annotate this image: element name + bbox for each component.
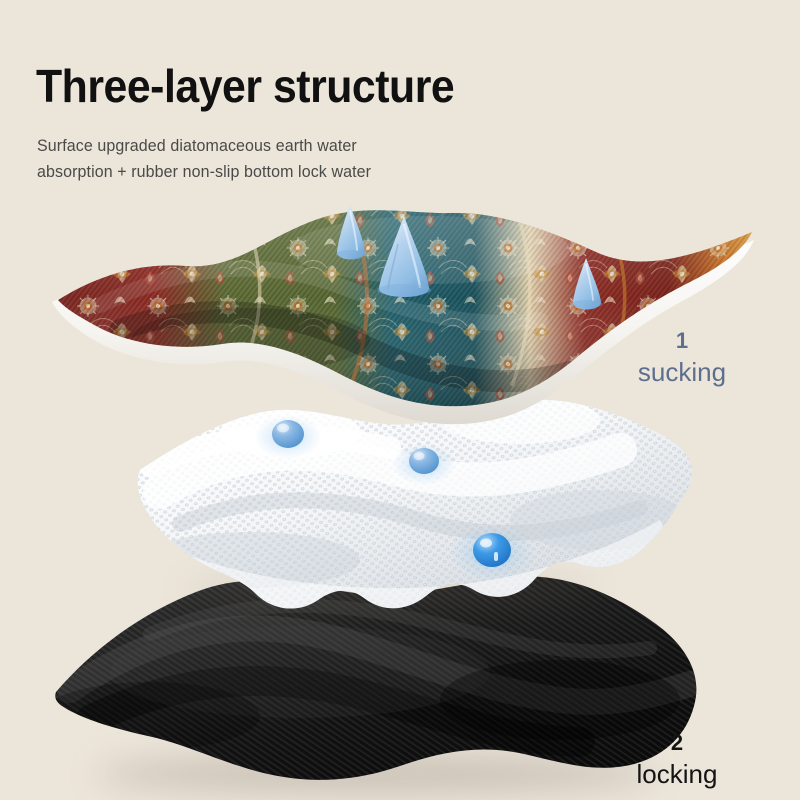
carpet-patterned-face xyxy=(40,190,780,430)
callout-1-number: 1 xyxy=(622,326,742,355)
callout-sucking: 1 sucking xyxy=(622,326,742,389)
product-infographic: Three-layer structure Surface upgraded d… xyxy=(0,0,800,800)
top-carpet-layer xyxy=(0,0,800,800)
callout-1-label: sucking xyxy=(622,355,742,389)
callout-locking: 2 locking xyxy=(612,728,742,791)
callout-2-label: locking xyxy=(612,757,742,791)
layer-diagram xyxy=(0,0,800,800)
callout-2-number: 2 xyxy=(612,728,742,757)
